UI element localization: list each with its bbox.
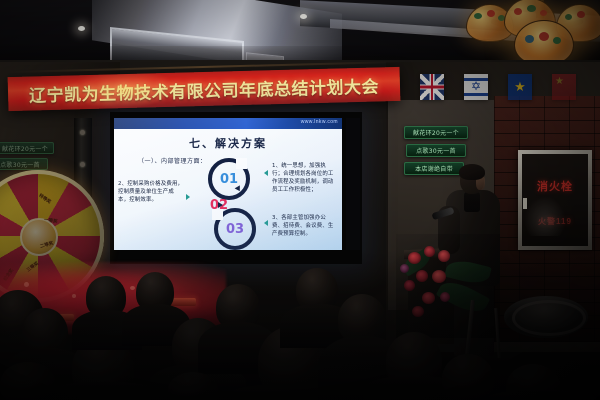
step-arrow-02 <box>218 202 223 208</box>
audience-head <box>442 354 494 400</box>
price-sign-song-request: 点歌30元一首 <box>406 144 466 157</box>
pillar-bolt <box>80 162 85 167</box>
screen-dark-edge <box>346 118 360 250</box>
chandelier-jewel <box>553 37 561 44</box>
presentation-slide: www.lnkw.com 七、解决方案 （一）、内部管理方面： 2、控制采购价格… <box>114 118 342 250</box>
projection-screen: www.lnkw.com 七、解决方案 （一）、内部管理方面： 2、控制采购价格… <box>110 112 362 264</box>
flag-row <box>420 74 600 104</box>
chandelier-jewel <box>474 13 482 19</box>
audience-shoulders <box>48 382 160 400</box>
ceiling-spotlight <box>78 26 85 31</box>
conference-room-photo: 消火栓 火警119 辽宁凯为生物技术有限公司年底总结计划大会 献花环20元一个 … <box>0 0 600 400</box>
ceiling-spotlight <box>300 14 307 19</box>
price-sign-song-request-left: 点歌30元一首 <box>0 158 48 170</box>
chandelier-jewel <box>527 5 536 12</box>
chandelier-jewel <box>525 35 534 43</box>
audience <box>0 260 600 400</box>
flag-israel-icon <box>464 74 488 100</box>
slide-text-block-left: 2、控制采购价格及费用，控制质量及单位生产成本，控制效率。 <box>118 180 184 204</box>
slide-text-block-right-top: 1、统一思想，加强执行；合理规划各岗位的工作流程及奖励机制，调动员工工作积极性； <box>272 162 336 194</box>
audience-head <box>168 372 218 400</box>
ring-gap <box>236 158 247 169</box>
slide-header-bar: www.lnkw.com <box>114 118 342 129</box>
slide-step-diagram: 01 02 03 <box>192 158 258 244</box>
flag-china-icon <box>552 74 576 100</box>
step-number-03: 03 <box>226 222 244 237</box>
chandelier-jewel <box>487 10 495 17</box>
ring-gap <box>212 209 223 220</box>
bullet-arrow-right-top <box>264 170 268 176</box>
hydrant-glass-reflection <box>524 196 566 236</box>
step-ring-03: 03 <box>214 208 256 250</box>
rose-flower <box>424 246 435 257</box>
flag-european-union-icon <box>508 74 532 100</box>
chandelier-jewel <box>514 8 522 15</box>
chandelier-jewel <box>577 11 585 18</box>
chandelier-jewel <box>540 10 547 16</box>
chandelier-jewel <box>539 32 549 41</box>
audience-head <box>0 362 56 400</box>
chandelier-jewel <box>565 14 572 20</box>
slide-text-block-right-bottom: 3、各部主管加强办公费、招待费、会议费、生产费预算控制。 <box>272 214 336 238</box>
slide-title: 七、解决方案 <box>114 135 342 151</box>
event-banner-text: 辽宁凯为生物技术有限公司年底总结计划大会 <box>29 72 380 106</box>
hydrant-label-top: 消火栓 <box>522 178 588 194</box>
slide-website-url: www.lnkw.com <box>301 119 338 125</box>
flag-united-kingdom-icon <box>420 74 444 100</box>
presenter-shirt-collar <box>464 192 480 212</box>
pillar-bolt <box>80 130 85 135</box>
audience-shoulders <box>486 390 596 400</box>
price-sign-flower-wreath-left: 献花环20元一个 <box>0 142 54 154</box>
bullet-arrow-left <box>186 194 190 200</box>
price-sign-flower-wreath: 献花环20元一个 <box>404 126 468 139</box>
bullet-arrow-right-bottom <box>264 220 268 226</box>
presenter-hair <box>459 164 485 180</box>
